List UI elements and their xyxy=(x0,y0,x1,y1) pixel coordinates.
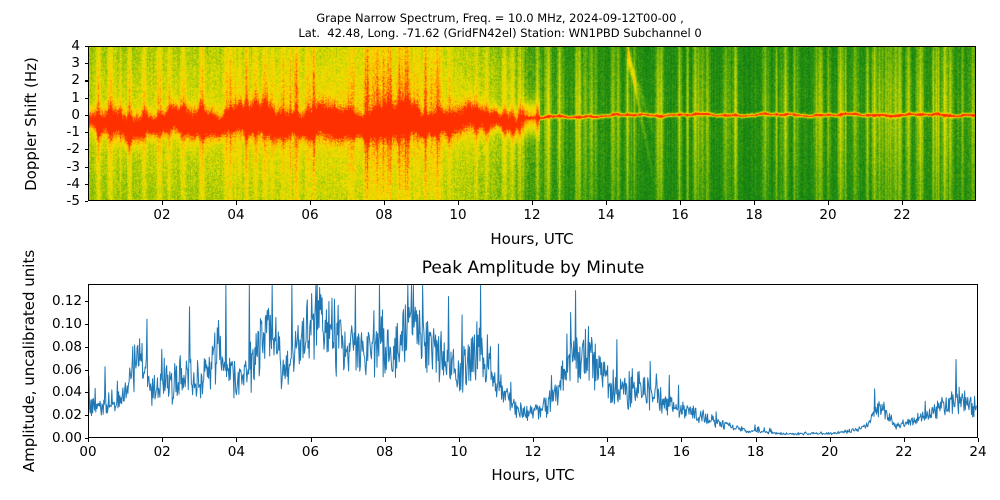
spectrogram-ylabel: Doppler Shift (Hz) xyxy=(22,57,40,191)
spectrogram-xtick-mark xyxy=(310,201,311,205)
amplitude-xtick-label: 12 xyxy=(524,444,541,460)
spectrogram-ytick-label: -4 xyxy=(46,176,80,192)
amplitude-xtick-mark xyxy=(459,438,460,442)
spectrogram-xtick-label: 20 xyxy=(819,207,836,223)
amplitude-line-series xyxy=(89,285,977,437)
spectrogram-image xyxy=(89,47,975,200)
amplitude-xtick-label: 18 xyxy=(747,444,764,460)
spectrogram-xtick-label: 06 xyxy=(301,207,318,223)
amplitude-xtick-mark xyxy=(88,438,89,442)
amplitude-xlabel: Hours, UTC xyxy=(491,466,574,484)
amplitude-ytick-label: 0.06 xyxy=(40,362,82,378)
amplitude-xtick-label: 22 xyxy=(895,444,912,460)
amplitude-ytick-label: 0.10 xyxy=(40,316,82,332)
amplitude-xtick-mark xyxy=(978,438,979,442)
spectrogram-ytick-label: 0 xyxy=(46,107,80,123)
spectrogram-xtick-label: 22 xyxy=(893,207,910,223)
amplitude-axes xyxy=(88,284,978,438)
spectrogram-xtick-label: 02 xyxy=(153,207,170,223)
amplitude-ytick-label: 0.04 xyxy=(40,384,82,400)
spectrogram-ytick-label: -5 xyxy=(46,193,80,209)
amplitude-ytick-mark xyxy=(85,415,89,416)
spectrogram-xtick-label: 08 xyxy=(375,207,392,223)
amplitude-xtick-label: 00 xyxy=(79,444,96,460)
amplitude-ytick-label: 0.08 xyxy=(40,339,82,355)
amplitude-xtick-mark xyxy=(236,438,237,442)
amplitude-ytick-mark xyxy=(85,370,89,371)
spectrogram-xtick-label: 04 xyxy=(227,207,244,223)
amplitude-xtick-label: 08 xyxy=(376,444,393,460)
spectrogram-ytick-mark xyxy=(85,184,89,185)
amplitude-polyline xyxy=(89,285,976,435)
spectrogram-xtick-mark xyxy=(680,201,681,205)
spectrogram-xtick-mark xyxy=(754,201,755,205)
spectrogram-xtick-mark xyxy=(532,201,533,205)
spectrogram-ytick-mark xyxy=(85,98,89,99)
amplitude-ylabel: Amplitude, uncalibrated units xyxy=(20,250,38,472)
spectrogram-xtick-label: 14 xyxy=(597,207,614,223)
amplitude-ytick-mark xyxy=(85,438,89,439)
figure-suptitle-line2: Lat. 42.48, Long. -71.62 (GridFN42el) St… xyxy=(0,26,1000,41)
amplitude-ytick-mark xyxy=(85,347,89,348)
spectrogram-ytick-label: -1 xyxy=(46,124,80,140)
figure-suptitle-line1: Grape Narrow Spectrum, Freq. = 10.0 MHz,… xyxy=(0,11,1000,26)
amplitude-xtick-mark xyxy=(904,438,905,442)
spectrogram-xtick-mark xyxy=(384,201,385,205)
spectrogram-ytick-mark xyxy=(85,149,89,150)
amplitude-xtick-mark xyxy=(311,438,312,442)
amplitude-xtick-mark xyxy=(533,438,534,442)
spectrogram-xlabel: Hours, UTC xyxy=(490,230,573,248)
amplitude-xtick-mark xyxy=(607,438,608,442)
amplitude-ytick-mark xyxy=(85,392,89,393)
amplitude-xtick-mark xyxy=(162,438,163,442)
amplitude-xtick-label: 10 xyxy=(450,444,467,460)
amplitude-ytick-label: 0.12 xyxy=(40,293,82,309)
spectrogram-xtick-label: 12 xyxy=(523,207,540,223)
spectrogram-xtick-label: 10 xyxy=(449,207,466,223)
amplitude-xtick-label: 24 xyxy=(969,444,986,460)
spectrogram-ytick-label: -3 xyxy=(46,159,80,175)
amplitude-xtick-label: 04 xyxy=(228,444,245,460)
spectrogram-xtick-label: 16 xyxy=(671,207,688,223)
spectrogram-ytick-label: 2 xyxy=(46,72,80,88)
amplitude-xtick-label: 14 xyxy=(599,444,616,460)
spectrogram-ytick-mark xyxy=(85,63,89,64)
spectrogram-ytick-mark xyxy=(85,115,89,116)
spectrogram-ytick-label: -2 xyxy=(46,141,80,157)
amplitude-xtick-mark xyxy=(756,438,757,442)
amplitude-xtick-label: 06 xyxy=(302,444,319,460)
matplotlib-figure: Grape Narrow Spectrum, Freq. = 10.0 MHz,… xyxy=(0,0,1000,500)
amplitude-ytick-mark xyxy=(85,324,89,325)
spectrogram-ytick-mark xyxy=(85,46,89,47)
spectrogram-ytick-mark xyxy=(85,80,89,81)
amplitude-xtick-mark xyxy=(830,438,831,442)
amplitude-ytick-mark xyxy=(85,301,89,302)
spectrogram-ytick-label: 1 xyxy=(46,90,80,106)
spectrogram-xtick-mark xyxy=(162,201,163,205)
spectrogram-xtick-mark xyxy=(606,201,607,205)
spectrogram-ytick-mark xyxy=(85,167,89,168)
spectrogram-axes xyxy=(88,46,976,201)
amplitude-xtick-mark xyxy=(681,438,682,442)
spectrogram-ytick-label: 3 xyxy=(46,55,80,71)
amplitude-ytick-label: 0.02 xyxy=(40,407,82,423)
spectrogram-xtick-mark xyxy=(458,201,459,205)
spectrogram-xtick-mark xyxy=(902,201,903,205)
amplitude-xtick-label: 16 xyxy=(673,444,690,460)
amplitude-ytick-label: 0.00 xyxy=(40,430,82,446)
amplitude-xtick-label: 02 xyxy=(154,444,171,460)
spectrogram-ytick-mark xyxy=(85,201,89,202)
amplitude-xtick-label: 20 xyxy=(821,444,838,460)
spectrogram-ytick-mark xyxy=(85,132,89,133)
amplitude-chart-title: Peak Amplitude by Minute xyxy=(88,258,978,278)
spectrogram-ytick-label: 4 xyxy=(46,38,80,54)
spectrogram-xtick-mark xyxy=(236,201,237,205)
amplitude-xtick-mark xyxy=(385,438,386,442)
spectrogram-xtick-label: 18 xyxy=(745,207,762,223)
spectrogram-xtick-mark xyxy=(828,201,829,205)
